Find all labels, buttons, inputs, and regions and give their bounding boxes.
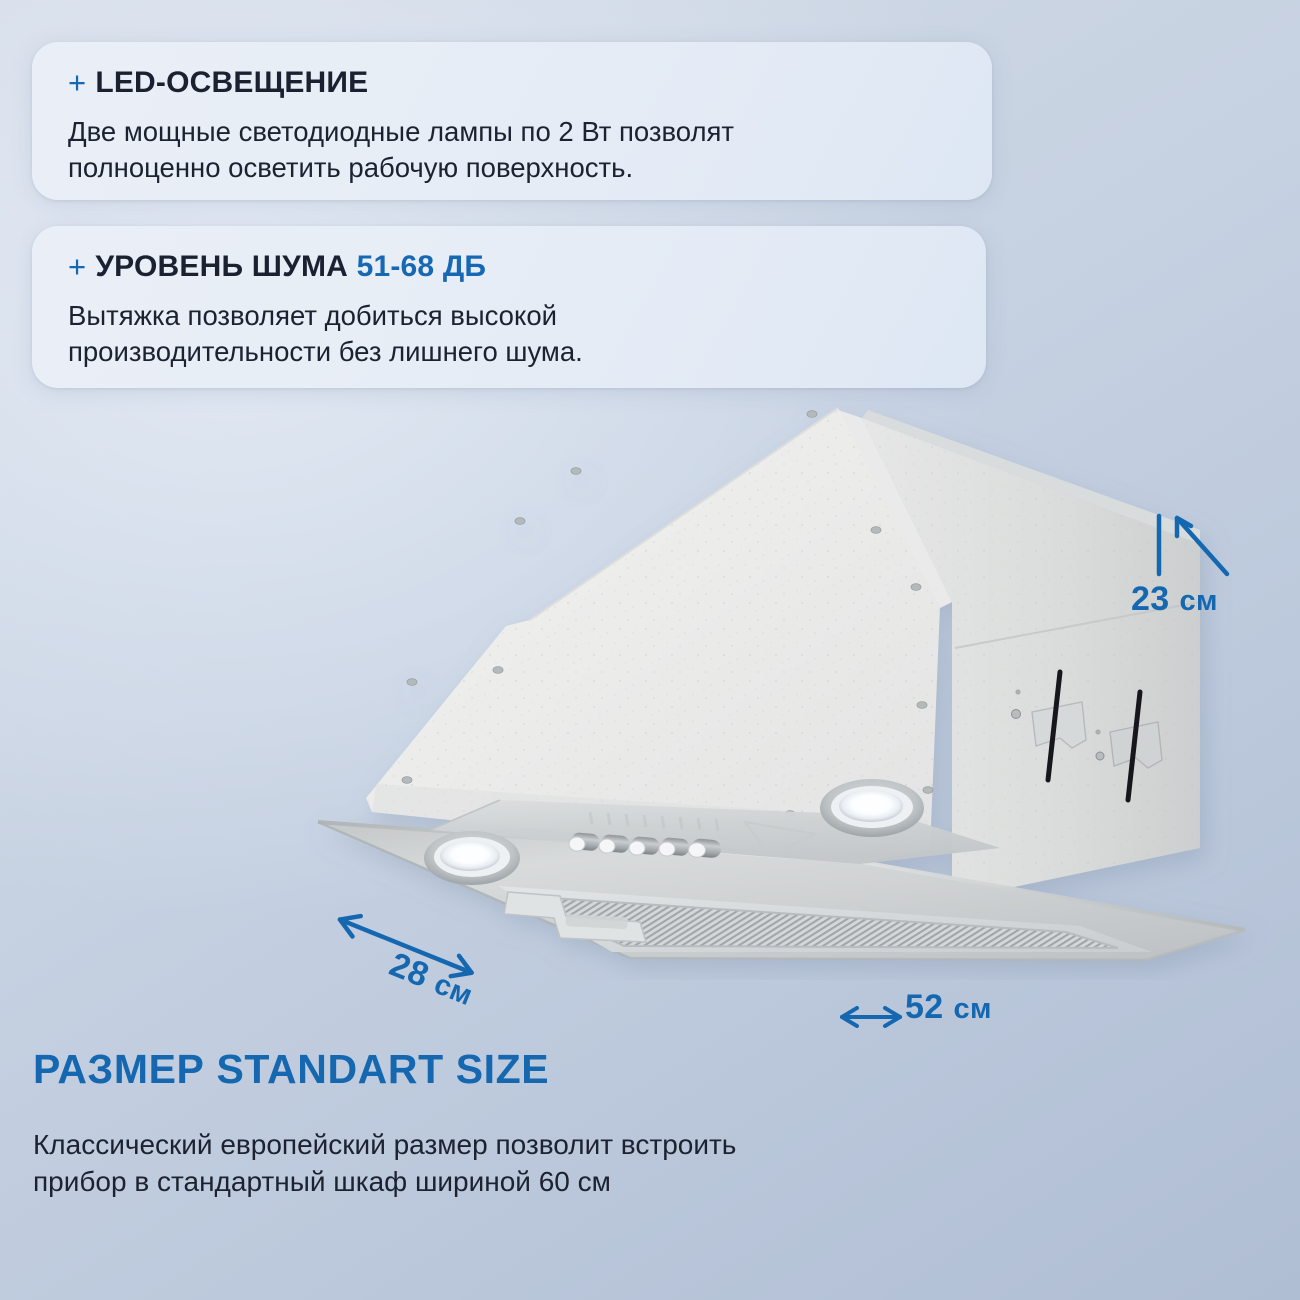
feature-card-noise-title: +УРОВЕНЬ ШУМА 51-68 ДБ [68,248,486,284]
hood-led-lamp-left [424,831,520,885]
infographic-canvas: +LED-ОСВЕЩЕНИЕ Две мощные светодиодные л… [0,0,1300,1300]
feature-title-text: LED-ОСВЕЩЕНИЕ [95,66,368,99]
feature-card-noise-level: +УРОВЕНЬ ШУМА 51-68 ДБ Вытяжка позволяет… [32,226,986,388]
plus-icon: + [68,65,86,100]
product-image-range-hood [0,380,1300,980]
dimension-label-width: 52 см [905,988,992,1027]
size-section-description: Классический европейский размер позволит… [33,1127,1033,1201]
size-section: РАЗМЕР STANDART SIZE Классический европе… [33,1046,1033,1201]
width-arrow-icon [836,1000,906,1034]
noise-value-text: 51-68 ДБ [357,250,487,283]
size-section-title: РАЗМЕР STANDART SIZE [33,1046,1033,1093]
hood-led-lamp-right [820,779,924,837]
feature-card-noise-body: Вытяжка позволяет добиться высокой произ… [68,298,968,370]
plus-icon: + [68,249,86,284]
feature-card-led-title: +LED-ОСВЕЩЕНИЕ [68,64,368,100]
feature-card-led-body: Две мощные светодиодные лампы по 2 Вт по… [68,114,968,186]
feature-card-led-lighting: +LED-ОСВЕЩЕНИЕ Две мощные светодиодные л… [32,42,992,200]
dimension-label-height: 23 см [1131,580,1218,619]
feature-title-text: УРОВЕНЬ ШУМА [95,250,356,283]
